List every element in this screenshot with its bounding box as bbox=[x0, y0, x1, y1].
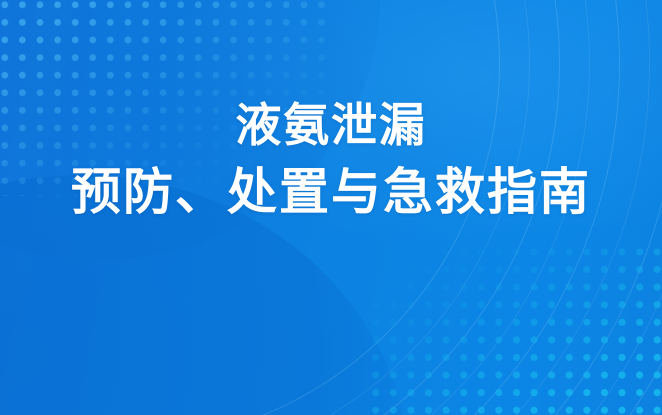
title-line-secondary: 预防、处置与急救指南 bbox=[0, 164, 662, 220]
banner-title: 液氨泄漏 预防、处置与急救指南 bbox=[0, 100, 662, 220]
title-banner: 液氨泄漏 预防、处置与急救指南 bbox=[0, 0, 662, 415]
dot-grid-bottom-right bbox=[366, 239, 662, 415]
title-line-primary: 液氨泄漏 bbox=[0, 100, 662, 152]
